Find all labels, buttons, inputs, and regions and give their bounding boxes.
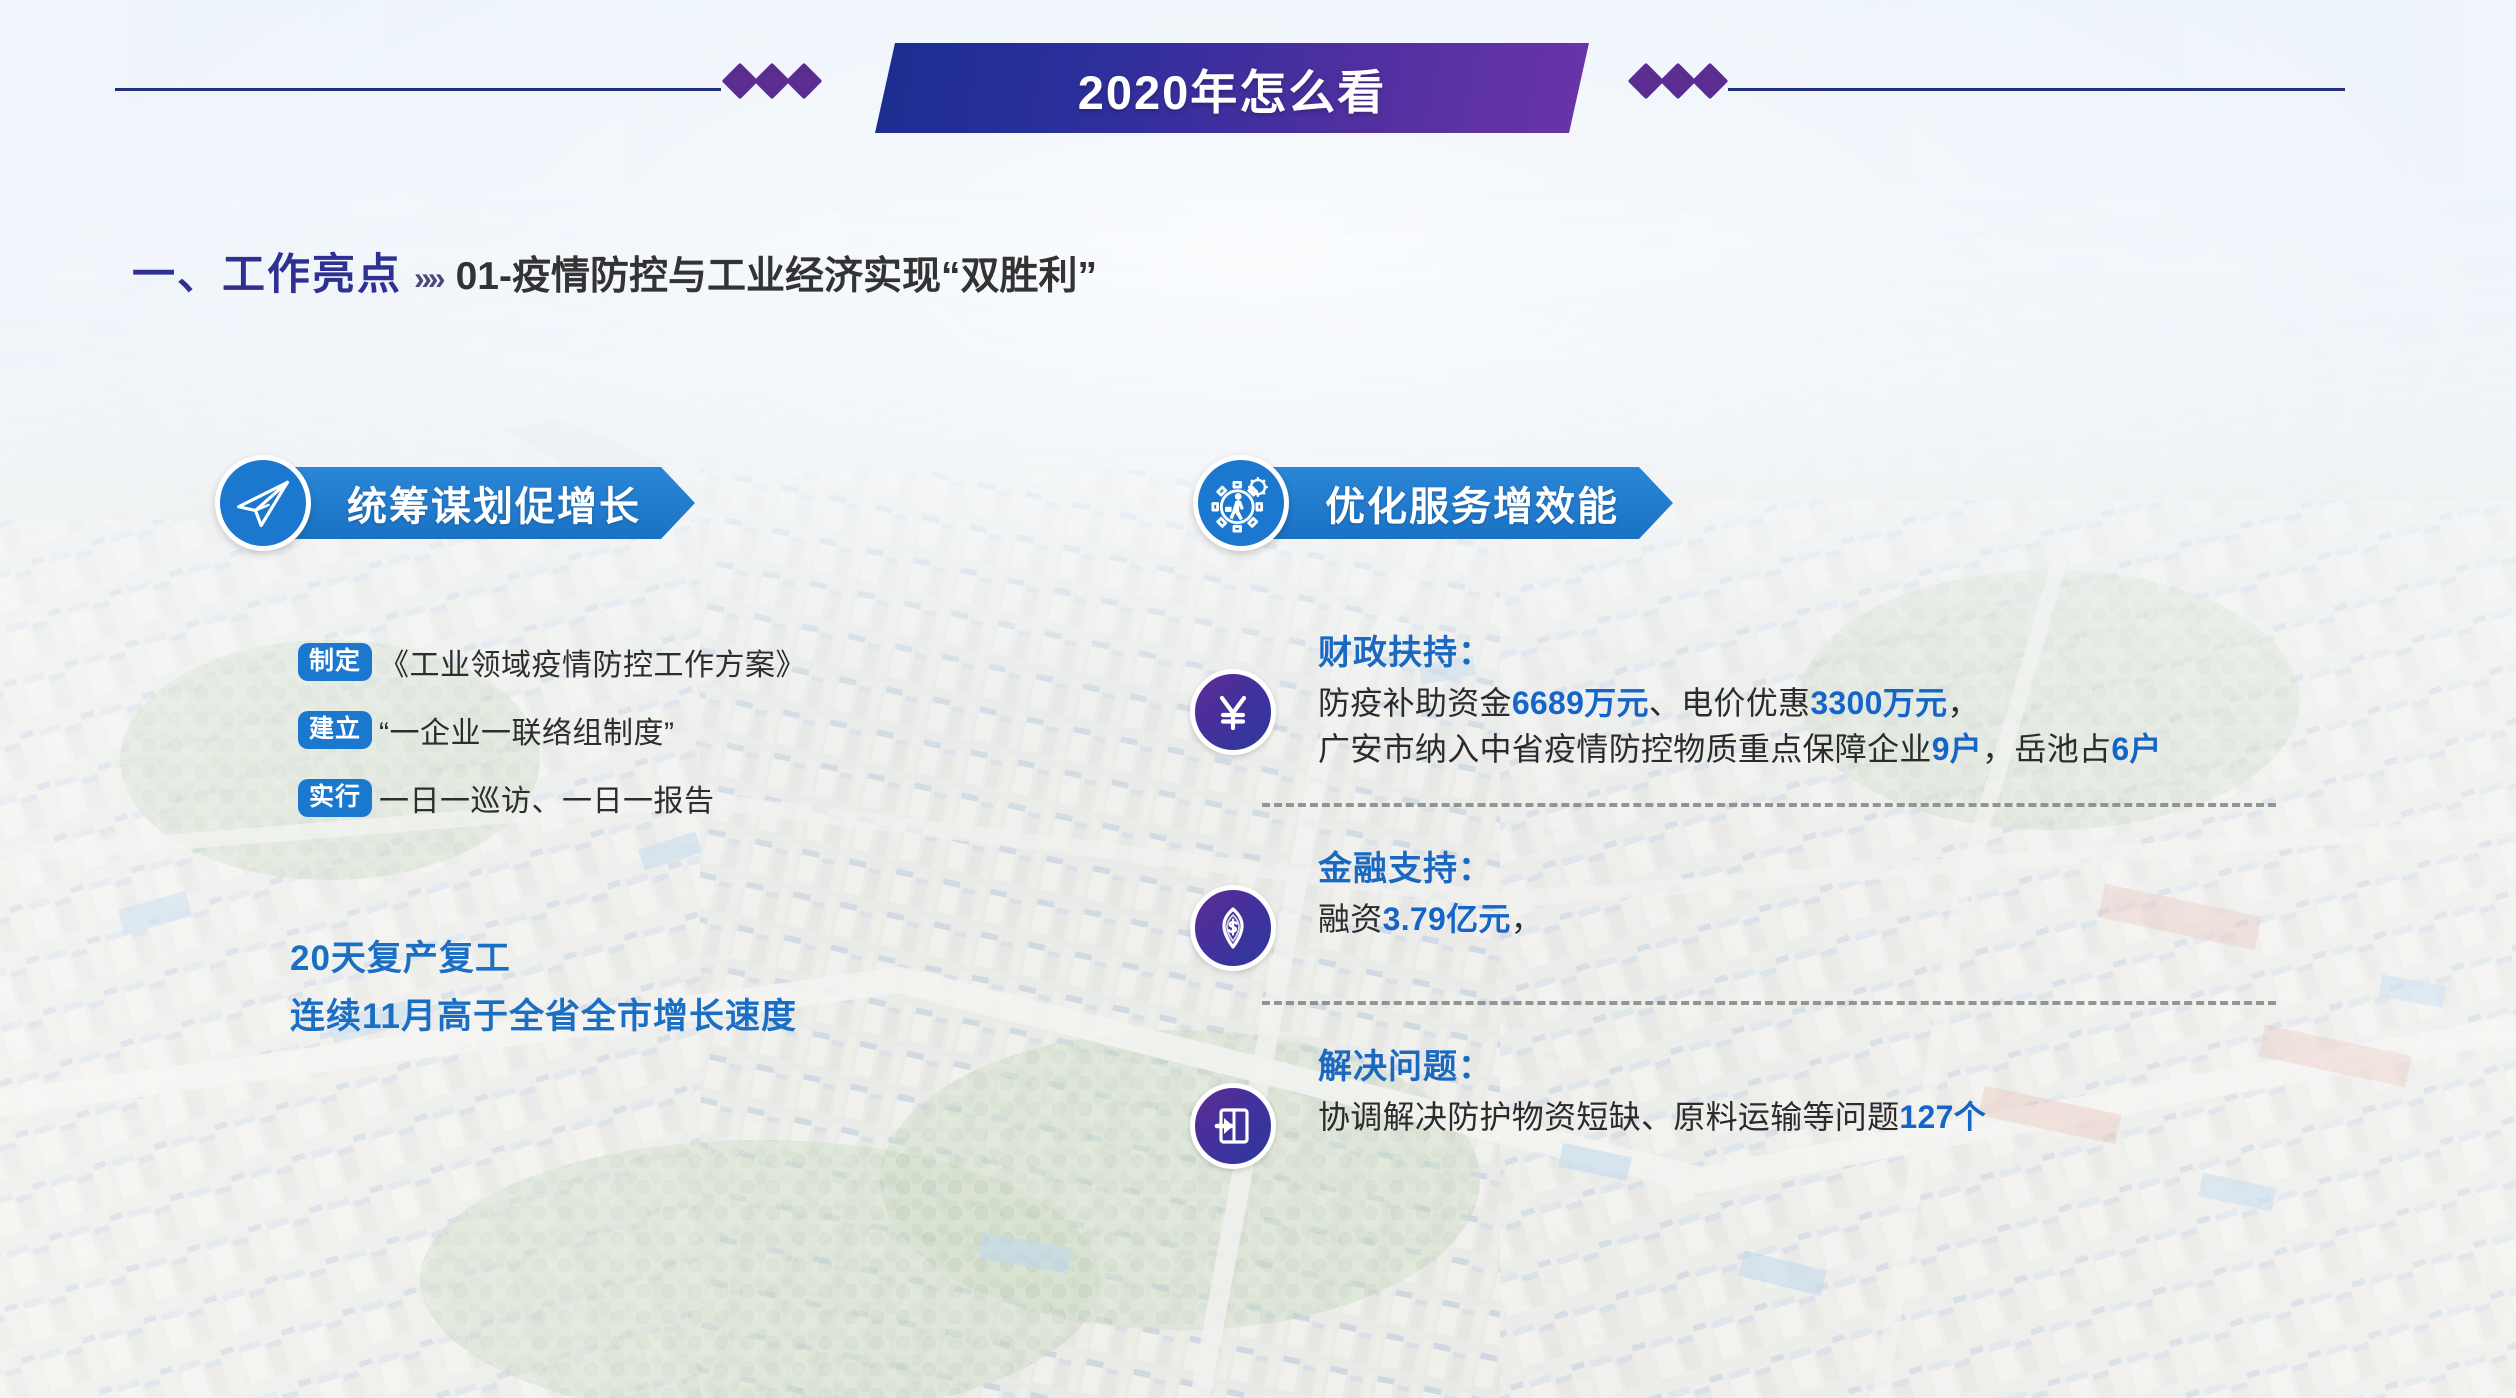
- left-highlight-line-1: 20天复产复工: [290, 930, 797, 988]
- list-item-body: 财政扶持： 防疫补助资金6689万元、电价优惠3300万元， 广安市纳入中省疫情…: [1318, 625, 2162, 773]
- diamond-icon: [786, 63, 823, 100]
- text-run: 广安市纳入中省疫情防控物质重点保障企业: [1318, 731, 1932, 767]
- paper-plane-icon: [215, 455, 311, 551]
- text-run: ，: [1947, 685, 1979, 721]
- badge-jianli: 建立: [298, 711, 372, 749]
- right-column: 财政扶持： 防疫补助资金6689万元、电价优惠3300万元， 广安市纳入中省疫情…: [1190, 625, 2450, 1169]
- list-item: 解决问题： 协调解决防护物资短缺、原料运输等问题127个: [1190, 1039, 2450, 1169]
- gear-worker-icon: [1193, 455, 1289, 551]
- text-run: 融资: [1318, 901, 1383, 937]
- list-item-text: 《工业领域疫情防控工作方案》: [379, 640, 806, 684]
- text-run: ，: [1511, 901, 1543, 937]
- diamond-group-right: [1633, 68, 1723, 94]
- diamond-icon: [1660, 63, 1697, 100]
- list-item: 实行 一日一巡访、一日一报告: [298, 776, 806, 820]
- header-banner-title: 2020年怎么看: [1078, 54, 1387, 123]
- slide: 2020年怎么看 一、工作亮点 »» 01-疫情防控与工业经济实现“双胜利”: [0, 0, 2516, 1398]
- item-line: 防疫补助资金6689万元、电价优惠3300万元，: [1318, 680, 2162, 726]
- list-item-body: 解决问题： 协调解决防护物资短缺、原料运输等问题127个: [1318, 1039, 1986, 1140]
- column-header-right: 优化服务增效能: [1193, 455, 1673, 551]
- highlight-value: 6689万元: [1512, 685, 1649, 721]
- list-item: 建立 “一企业一联络组制度”: [298, 708, 806, 752]
- section-subtitle: 01-疫情防控与工业经济实现“双胜利”: [456, 245, 1097, 301]
- section-index-label: 一、工作亮点: [132, 240, 402, 302]
- list-item-text: “一企业一联络组制度”: [379, 708, 674, 752]
- text-run: ，岳池占: [1982, 731, 2111, 767]
- list-item: 制定 《工业领域疫情防控工作方案》: [298, 640, 806, 684]
- chevron-right-icon: »»: [414, 260, 442, 297]
- list-item: 财政扶持： 防疫补助资金6689万元、电价优惠3300万元， 广安市纳入中省疫情…: [1190, 625, 2450, 773]
- item-heading: 财政扶持：: [1318, 625, 2162, 674]
- diamond-icon: [1692, 63, 1729, 100]
- highlight-value: 9户: [1932, 731, 1982, 767]
- column-title-left: 统筹谋划促增长: [347, 474, 641, 532]
- text-run: 协调解决防护物资短缺、原料运输等问题: [1318, 1099, 1899, 1135]
- column-header-left: 统筹谋划促增长: [215, 455, 695, 551]
- item-line: 协调解决防护物资短缺、原料运输等问题127个: [1318, 1094, 1986, 1140]
- exit-arrow-icon: [1190, 1083, 1276, 1169]
- yen-coin-icon: [1190, 669, 1276, 755]
- list-item-body: 金融支持： 融资3.79亿元，: [1318, 841, 1543, 942]
- slide-header: 2020年怎么看: [0, 0, 2516, 150]
- item-line: 融资3.79亿元，: [1318, 896, 1543, 942]
- header-rule-left: [115, 88, 721, 91]
- highlight-value: 3300万元: [1810, 685, 1947, 721]
- section-title: 一、工作亮点 »» 01-疫情防控与工业经济实现“双胜利”: [132, 240, 1097, 302]
- list-item-text: 一日一巡访、一日一报告: [379, 776, 715, 820]
- diamond-icon: [754, 63, 791, 100]
- column-header-banner-left: 统筹谋划促增长: [279, 467, 695, 539]
- banknote-dollar-icon: [1190, 885, 1276, 971]
- diamond-icon: [722, 63, 759, 100]
- diamond-group-left: [727, 68, 817, 94]
- highlight-value: 6户: [2111, 731, 2161, 767]
- list-item: 金融支持： 融资3.79亿元，: [1190, 841, 2450, 971]
- left-column: 制定 《工业领域疫情防控工作方案》 建立 “一企业一联络组制度” 实行 一日一巡…: [298, 640, 806, 844]
- badge-zhiding: 制定: [298, 643, 372, 681]
- badge-shixing: 实行: [298, 779, 372, 817]
- left-highlight-line-2: 连续11月高于全省全市增长速度: [290, 988, 797, 1046]
- header-banner: 2020年怎么看: [875, 43, 1589, 133]
- text-run: 防疫补助资金: [1318, 685, 1512, 721]
- separator-dashed: [1262, 1001, 2276, 1005]
- highlight-value: 127个: [1899, 1099, 1986, 1135]
- item-heading: 解决问题：: [1318, 1039, 1986, 1088]
- separator-dashed: [1262, 803, 2276, 807]
- column-title-right: 优化服务增效能: [1325, 474, 1619, 532]
- text-run: 、电价优惠: [1649, 685, 1811, 721]
- diamond-icon: [1628, 63, 1665, 100]
- header-rule-right: [1728, 88, 2345, 91]
- item-heading: 金融支持：: [1318, 841, 1543, 890]
- left-highlight-block: 20天复产复工 连续11月高于全省全市增长速度: [290, 930, 797, 1046]
- column-header-banner-right: 优化服务增效能: [1257, 467, 1673, 539]
- highlight-value: 3.79亿元: [1383, 901, 1511, 937]
- item-line: 广安市纳入中省疫情防控物质重点保障企业9户，岳池占6户: [1318, 726, 2162, 772]
